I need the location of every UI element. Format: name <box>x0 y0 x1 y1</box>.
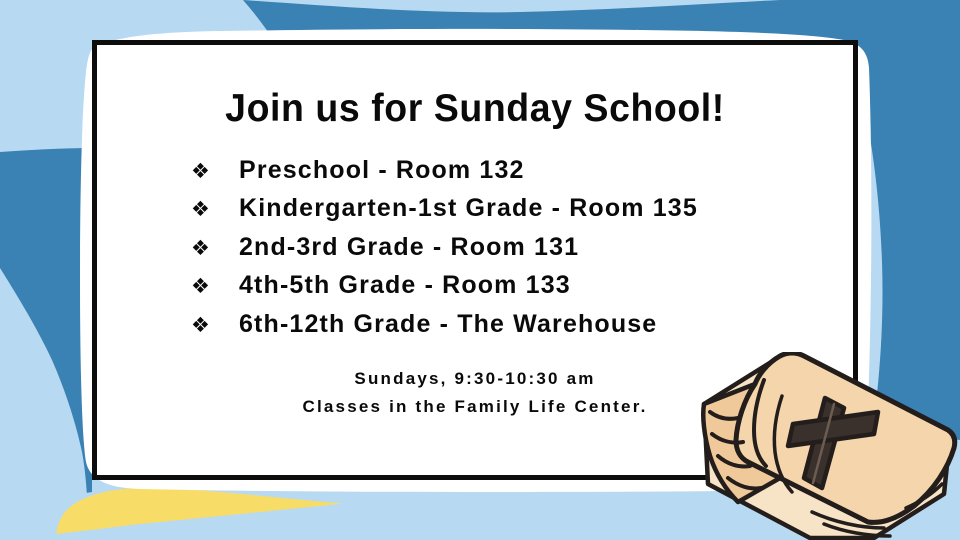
list-item: ❖ Preschool - Room 132 <box>191 156 827 186</box>
class-label: 6th-12th Grade - The Warehouse <box>239 310 657 340</box>
diamond-bullet-icon: ❖ <box>191 238 239 259</box>
diamond-bullet-icon: ❖ <box>191 161 239 182</box>
sunday-school-flyer: Join us for Sunday School! ❖ Preschool -… <box>0 0 960 540</box>
list-item: ❖ 2nd-3rd Grade - Room 131 <box>191 233 827 263</box>
class-list: ❖ Preschool - Room 132 ❖ Kindergarten-1s… <box>123 156 827 340</box>
class-label: Preschool - Room 132 <box>239 156 525 186</box>
class-label: 2nd-3rd Grade - Room 131 <box>239 233 579 263</box>
list-item: ❖ 6th-12th Grade - The Warehouse <box>191 310 827 340</box>
page-title: Join us for Sunday School! <box>137 89 813 130</box>
diamond-bullet-icon: ❖ <box>191 199 239 220</box>
diamond-bullet-icon: ❖ <box>191 276 239 297</box>
diamond-bullet-icon: ❖ <box>191 315 239 336</box>
class-label: 4th-5th Grade - Room 133 <box>239 271 571 301</box>
bible-illustration <box>692 352 960 540</box>
class-label: Kindergarten-1st Grade - Room 135 <box>239 194 698 224</box>
list-item: ❖ Kindergarten-1st Grade - Room 135 <box>191 194 827 224</box>
list-item: ❖ 4th-5th Grade - Room 133 <box>191 271 827 301</box>
